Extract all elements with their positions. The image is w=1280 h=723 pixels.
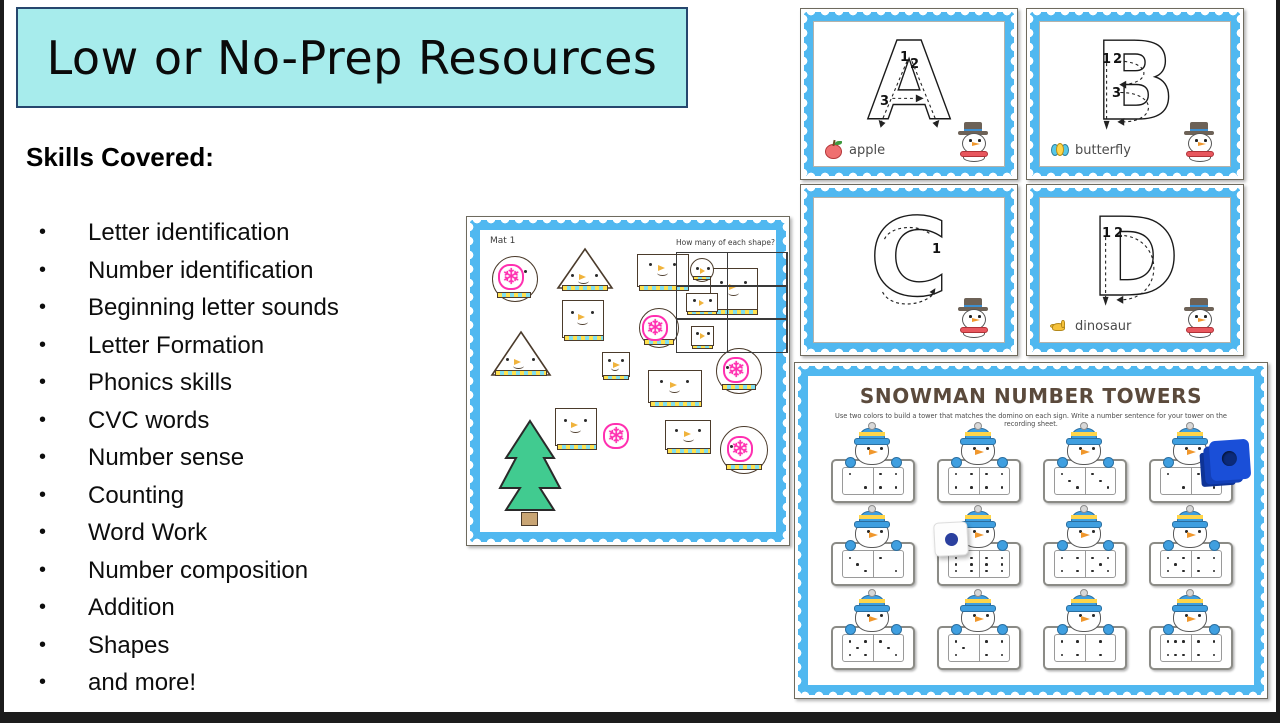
table-row [677,319,787,352]
snowflake-counter: ❄ [607,425,625,447]
domino-card [1054,467,1116,495]
snowman-number-towers-sheet: SNOWMAN NUMBER TOWERS Use two colors to … [794,362,1268,699]
domino-card [1054,550,1116,578]
snowman-icon [954,122,996,162]
table-cell-shape [676,318,728,352]
card-inner: SNOWMAN NUMBER TOWERS Use two colors to … [808,376,1254,685]
word-label: butterfly [1075,143,1131,158]
list-item: Letter Formation [28,327,458,365]
card-inner: D 1 2 dinosaur [1039,197,1231,343]
tower-sign[interactable] [1032,595,1138,679]
page-title: Low or No-Prep Resources [47,31,658,85]
apple-icon [824,140,844,160]
skills-list: Letter identification Number identificat… [28,214,458,702]
snowman-icon [954,298,996,338]
table-cell-count[interactable] [727,285,787,319]
shape-rectangle [665,420,711,450]
letter-card-c: C 1 [800,184,1018,356]
watermark [744,514,746,520]
christmas-tree-icon [492,418,568,526]
list-item: Word Work [28,514,458,552]
domino-card [948,467,1010,495]
snowflake-counter: ❄ [502,266,520,288]
word-label: apple [849,143,885,158]
word-row: dinosaur [1050,316,1131,336]
snowman-icon [1180,298,1222,338]
tower-sign[interactable] [820,512,926,596]
word-label: dinosaur [1075,319,1131,334]
card-inner: A 1 2 3 apple [813,21,1005,167]
table-row [677,253,787,286]
domino-sign [937,626,1021,670]
list-item: Number identification [28,252,458,290]
domino-sign [1043,459,1127,503]
list-item: Letter identification [28,214,458,252]
list-item: and more! [28,664,458,702]
tower-sign[interactable] [1032,428,1138,512]
word-row: butterfly [1050,140,1131,160]
domino-sign [1149,542,1233,586]
snowman-icon [1180,122,1222,162]
domino-card [842,550,904,578]
domino-sign [831,542,915,586]
list-item: CVC words [28,402,458,440]
table-cell-count[interactable] [727,252,787,286]
list-item: Beginning letter sounds [28,289,458,327]
domino-sign [1043,626,1127,670]
title-banner: Low or No-Prep Resources [16,7,688,108]
tower-sign[interactable] [1138,428,1244,512]
butterfly-icon [1050,140,1070,160]
letter-card-d: D 1 2 dinosaur [1026,184,1244,356]
tower-sign[interactable] [1032,512,1138,596]
shape-square [562,300,604,338]
tower-sign[interactable] [820,595,926,679]
word-row: apple [824,140,885,160]
snowflake-counter: ❄ [731,438,749,460]
shape-sorting-mat: Mat 1 How many of each shape? ❄ [466,216,790,546]
blue-die-overlay[interactable] [1209,439,1252,482]
letter-card-a: A 1 2 3 apple [800,8,1018,180]
skills-heading: Skills Covered: [26,142,214,173]
tower-sign[interactable] [1138,595,1244,679]
letter-card-b: B 1 2 3 butterfly [1026,8,1244,180]
table-cell-shape [676,252,728,286]
card-inner: C 1 [813,197,1005,343]
snowflake-counter: ❄ [727,359,745,381]
tower-sign[interactable] [1138,512,1244,596]
snowflake-counter: ❄ [646,317,664,339]
domino-sign [1149,626,1233,670]
domino-sign [1043,542,1127,586]
tower-sign[interactable] [926,512,1032,596]
domino-sign [831,459,915,503]
tower-sign[interactable] [926,595,1032,679]
table-row [677,286,787,319]
list-item: Shapes [28,627,458,665]
domino-card [948,634,1010,662]
table-cell-shape [676,285,728,319]
domino-card [842,634,904,662]
white-die-overlay[interactable] [933,521,969,557]
tower-sign[interactable] [820,428,926,512]
domino-sign [831,626,915,670]
towers-title: SNOWMAN NUMBER TOWERS [808,384,1254,408]
domino-card [1054,634,1116,662]
towers-instructions: Use two colors to build a tower that mat… [824,412,1238,428]
shape-square [602,352,630,377]
towers-grid [820,428,1244,679]
domino-sign [937,459,1021,503]
list-item: Addition [28,589,458,627]
card-inner: B 1 2 3 butterfly [1039,21,1231,167]
domino-card [1160,634,1222,662]
list-item: Number sense [28,439,458,477]
mat-label: Mat 1 [490,236,515,246]
slide-canvas: Low or No-Prep Resources Skills Covered:… [4,0,1276,712]
mat-question: How many of each shape? [676,238,775,247]
list-item: Phonics skills [28,364,458,402]
shape-rectangle [648,370,702,403]
tower-sign[interactable] [926,428,1032,512]
dinosaur-icon [1050,316,1070,336]
card-inner: Mat 1 How many of each shape? ❄ [480,230,776,532]
tally-table [676,252,788,353]
domino-card [842,467,904,495]
list-item: Number composition [28,552,458,590]
domino-card [1160,550,1222,578]
table-cell-count[interactable] [727,318,787,352]
list-item: Counting [28,477,458,515]
